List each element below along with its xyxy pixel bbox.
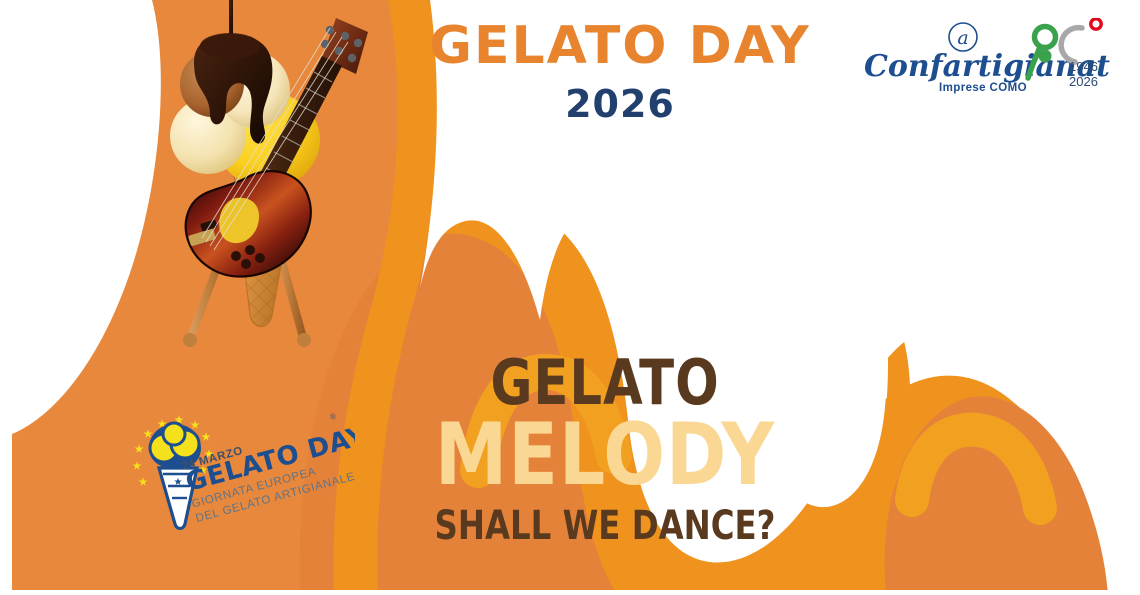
anniversary-red-dot-icon [1091,19,1101,29]
ice-cream-guitar-illustration [150,0,380,360]
headline-line-melody: MELODY [408,412,803,500]
confartigianato-logo: a Confartigianato Imprese COMO 1946 2026 [860,18,1110,108]
gelato-day-logo-registered-mark: ® [329,412,337,422]
headline-tagline: SHALL WE DANCE? [416,506,794,546]
confartigianato-subtitle: Imprese COMO [939,82,1027,94]
anniversary-year-to: 2026 [1069,74,1098,89]
gelato-day-logo: 24 MARZO GELATO DAY ® GIORNATA EUROPEA D… [115,412,355,537]
monogram-letter: a [957,27,968,49]
anniversary-year-from: 1946 [1069,59,1098,74]
page-year: 2026 [420,82,820,126]
headline-block: GELATO MELODY SHALL WE DANCE? [395,352,815,546]
confartigianato-monogram-icon: a [949,23,977,51]
gelato-day-poster: GELATO DAY 2026 GELATO MELODY SHALL WE D… [0,0,1140,595]
page-title: GELATO DAY [420,16,820,76]
